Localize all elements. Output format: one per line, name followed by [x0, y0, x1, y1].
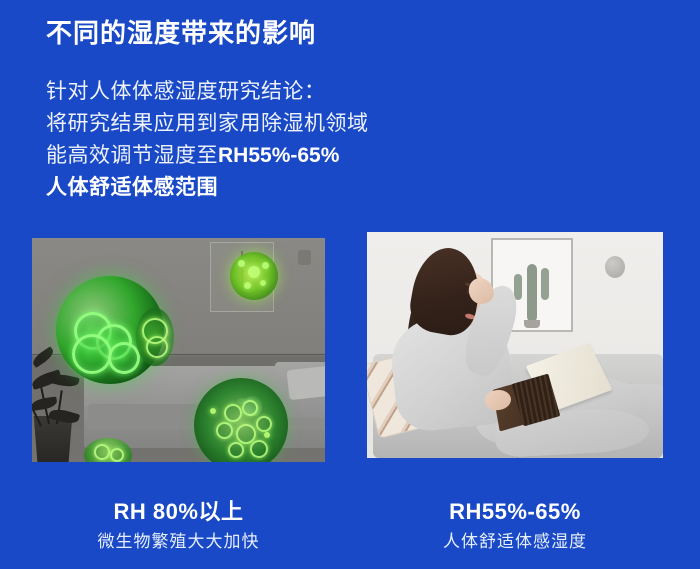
microbe-dot	[248, 266, 260, 278]
intro-line-3-prefix: 能高效调节湿度至	[46, 144, 218, 167]
microbe-cell	[108, 342, 140, 374]
caption-subtitle: 人体舒适体感湿度	[367, 531, 663, 553]
intro-paragraph: 针对人体体感湿度研究结论： 将研究结果应用到家用除湿机领域 能高效调节湿度至RH…	[46, 76, 466, 204]
page-title: 不同的湿度带来的影响	[46, 18, 316, 49]
dark-room-illustration	[32, 238, 325, 462]
microbe-cell	[72, 334, 112, 374]
microbe-dot	[244, 282, 251, 289]
microbe-dot	[260, 280, 266, 286]
microbe-ring	[110, 448, 124, 462]
caption-title: RH55%-65%	[367, 498, 663, 526]
photo-comfort-humidity	[367, 232, 663, 458]
wall-switch-icon	[298, 250, 311, 265]
intro-line-1: 针对人体体感湿度研究结论：	[46, 76, 466, 108]
microbe-ring	[224, 404, 242, 422]
microbe-ring	[216, 422, 233, 439]
microbe-ring	[256, 416, 272, 432]
microbe-ring	[250, 440, 268, 458]
intro-line-3-highlight: RH55%-65%	[218, 144, 339, 167]
cactus-icon	[527, 264, 537, 322]
microbe-ring	[94, 444, 110, 460]
microbe-ring	[146, 336, 168, 358]
microbe-dot	[264, 432, 270, 438]
microbe-dot	[238, 260, 245, 267]
photo-high-humidity	[32, 238, 325, 462]
bright-room-illustration	[367, 232, 663, 458]
intro-line-3: 能高效调节湿度至RH55%-65%	[46, 140, 466, 172]
microbe-dot	[210, 408, 216, 414]
microbe-dot	[262, 262, 269, 269]
wall-knob-icon	[605, 256, 625, 278]
caption-subtitle: 微生物繁殖大大加快	[32, 531, 325, 553]
caption-title: RH 80%以上	[32, 498, 325, 526]
cactus-pot-icon	[524, 320, 540, 328]
intro-line-2: 将研究结果应用到家用除湿机领域	[46, 108, 466, 140]
plant-leaf	[50, 372, 80, 389]
sofa-pillow	[287, 366, 325, 400]
microbe-cluster-edge	[136, 308, 174, 366]
microbe-cluster-small	[230, 252, 278, 300]
microbe-ring	[242, 400, 258, 416]
humidity-poster: 不同的湿度带来的影响 针对人体体感湿度研究结论： 将研究结果应用到家用除湿机领域…	[0, 0, 700, 569]
microbe-cluster-foreground	[194, 378, 288, 462]
caption-high-humidity: RH 80%以上 微生物繁殖大大加快	[32, 498, 325, 553]
plant-leaf	[32, 346, 56, 368]
caption-comfort-humidity: RH55%-65% 人体舒适体感湿度	[367, 498, 663, 553]
microbe-ring	[228, 442, 244, 458]
intro-line-4: 人体舒适体感范围	[46, 172, 466, 204]
